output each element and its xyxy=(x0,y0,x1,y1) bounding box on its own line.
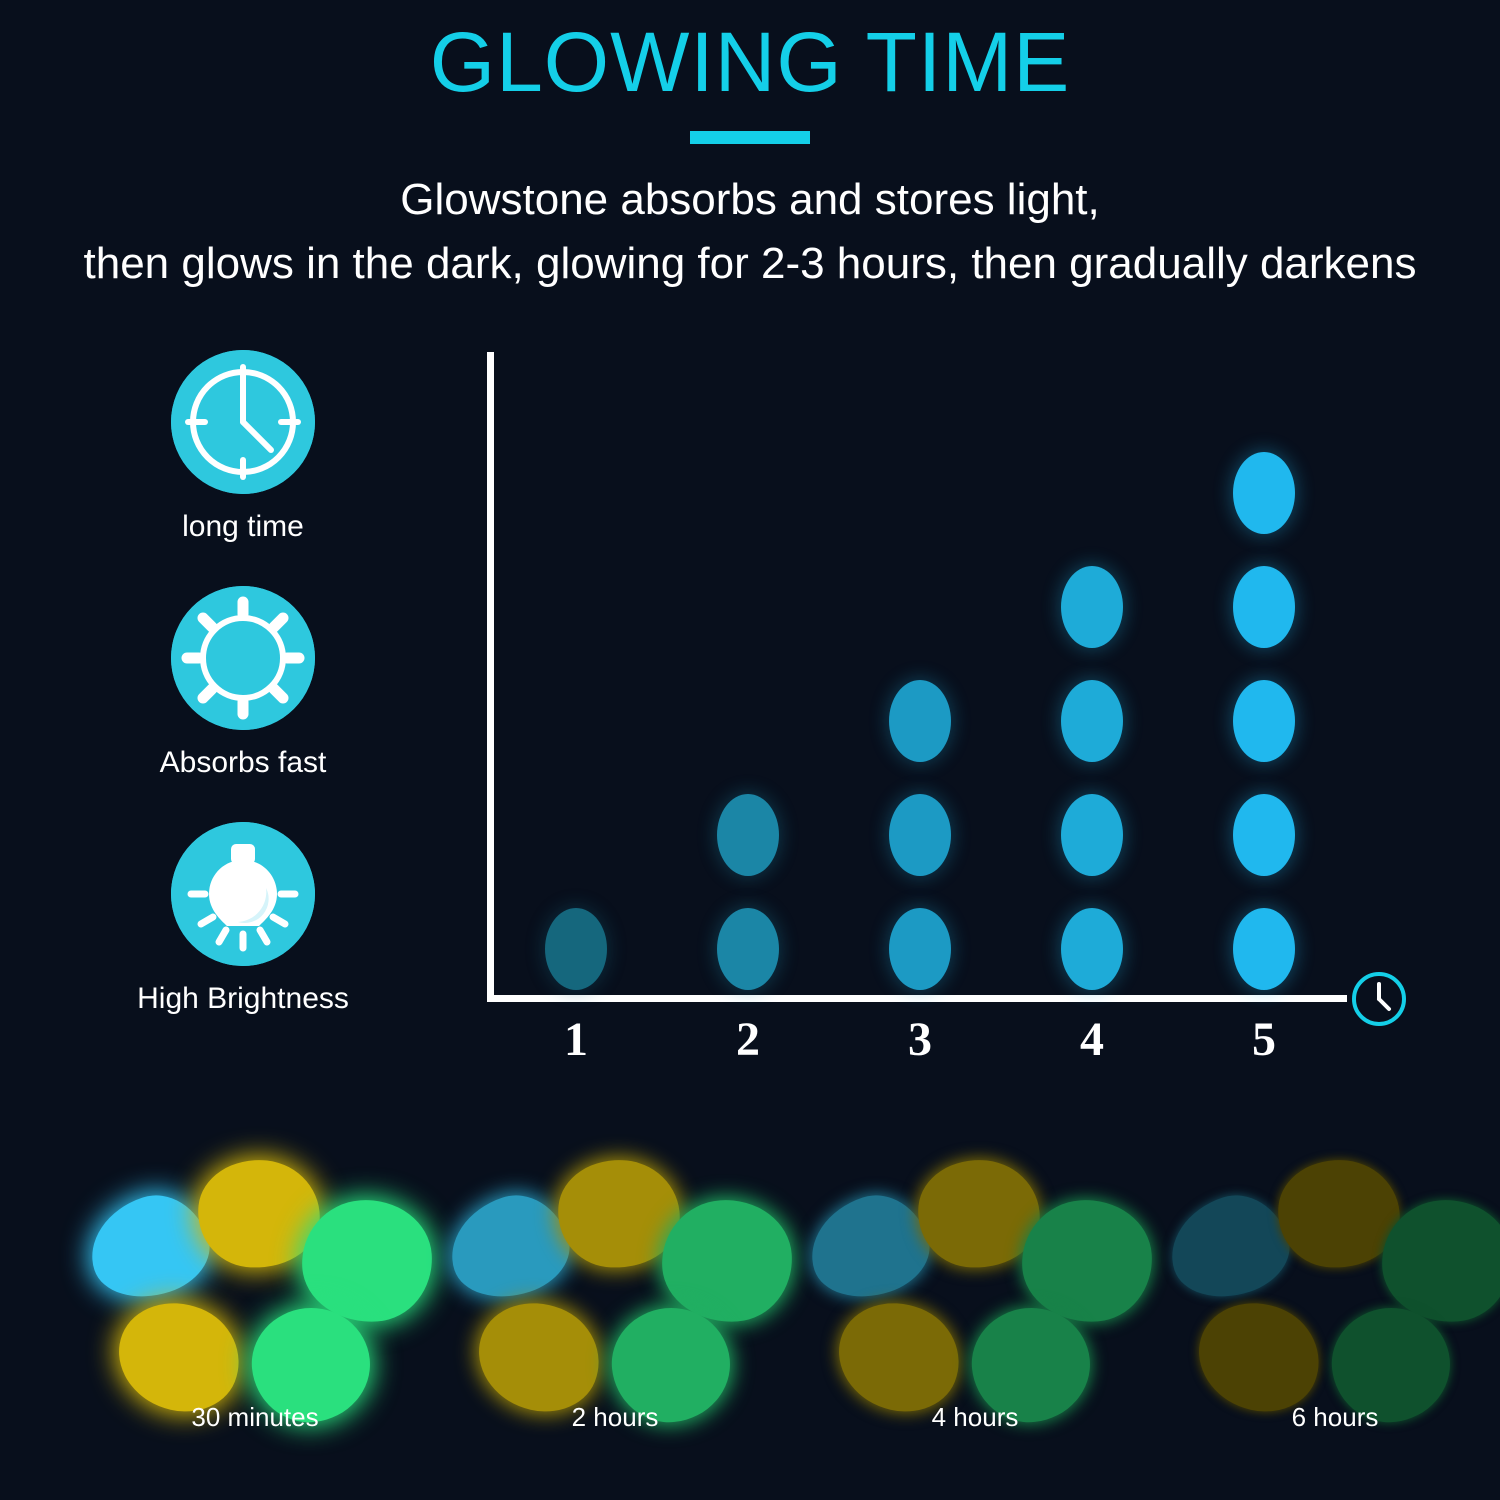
clock-icon xyxy=(1349,969,1409,1029)
stone-cluster xyxy=(440,1150,790,1400)
subtitle-line-1: Glowstone absorbs and stores light, xyxy=(0,168,1500,232)
stone-cluster xyxy=(80,1150,430,1400)
chart-dot xyxy=(1233,794,1295,876)
feature-label: Absorbs fast xyxy=(128,746,358,780)
glow-timeline-step: 2 hours xyxy=(440,1150,790,1480)
chart-dot xyxy=(889,680,951,762)
feature-long-time: long time xyxy=(128,350,358,544)
feature-label: long time xyxy=(128,510,358,544)
feature-absorbs-fast: Absorbs fast xyxy=(128,586,358,780)
chart-x-tick: 2 xyxy=(718,1012,778,1067)
clock-icon xyxy=(171,350,315,494)
chart-dot xyxy=(889,794,951,876)
chart-dot xyxy=(1233,908,1295,990)
chart-dot xyxy=(545,908,607,990)
brightness-dot-chart xyxy=(487,352,1387,1002)
glow-timeline-label: 4 hours xyxy=(800,1402,1150,1433)
chart-x-tick: 4 xyxy=(1062,1012,1122,1067)
lightbulb-icon xyxy=(171,822,315,966)
chart-x-tick: 3 xyxy=(890,1012,950,1067)
stone-cluster xyxy=(800,1150,1150,1400)
chart-dot xyxy=(1061,794,1123,876)
glow-timeline-step: 6 hours xyxy=(1160,1150,1500,1480)
glow-timeline-step: 30 minutes xyxy=(80,1150,430,1480)
chart-plot-area xyxy=(487,352,1387,1002)
feature-high-brightness: High Brightness xyxy=(128,822,358,1016)
chart-dot xyxy=(717,908,779,990)
chart-x-tick: 1 xyxy=(546,1012,606,1067)
glow-timeline: 30 minutes2 hours4 hours6 hours xyxy=(0,1150,1500,1480)
glow-timeline-label: 2 hours xyxy=(440,1402,790,1433)
chart-dot xyxy=(1233,452,1295,534)
chart-dot xyxy=(889,908,951,990)
chart-x-tick: 5 xyxy=(1234,1012,1294,1067)
page-subtitle: Glowstone absorbs and stores light, then… xyxy=(0,168,1500,296)
title-underline-rule xyxy=(690,131,810,144)
chart-dot xyxy=(717,794,779,876)
feature-label: High Brightness xyxy=(128,982,358,1016)
glow-timeline-label: 30 minutes xyxy=(80,1402,430,1433)
feature-list: long time xyxy=(128,350,358,1016)
subtitle-line-2: then glows in the dark, glowing for 2-3 … xyxy=(0,232,1500,296)
chart-x-tick-labels: 12345 xyxy=(487,1012,1347,1072)
chart-dot xyxy=(1233,680,1295,762)
sun-icon xyxy=(171,586,315,730)
infographic-page: GLOWING TIME Glowstone absorbs and store… xyxy=(0,0,1500,1500)
chart-dot xyxy=(1061,680,1123,762)
stone-cluster xyxy=(1160,1150,1500,1400)
glow-timeline-step: 4 hours xyxy=(800,1150,1150,1480)
glow-timeline-label: 6 hours xyxy=(1160,1402,1500,1433)
chart-dot xyxy=(1061,566,1123,648)
chart-dot xyxy=(1061,908,1123,990)
chart-dot xyxy=(1233,566,1295,648)
page-title: GLOWING TIME xyxy=(0,14,1500,111)
